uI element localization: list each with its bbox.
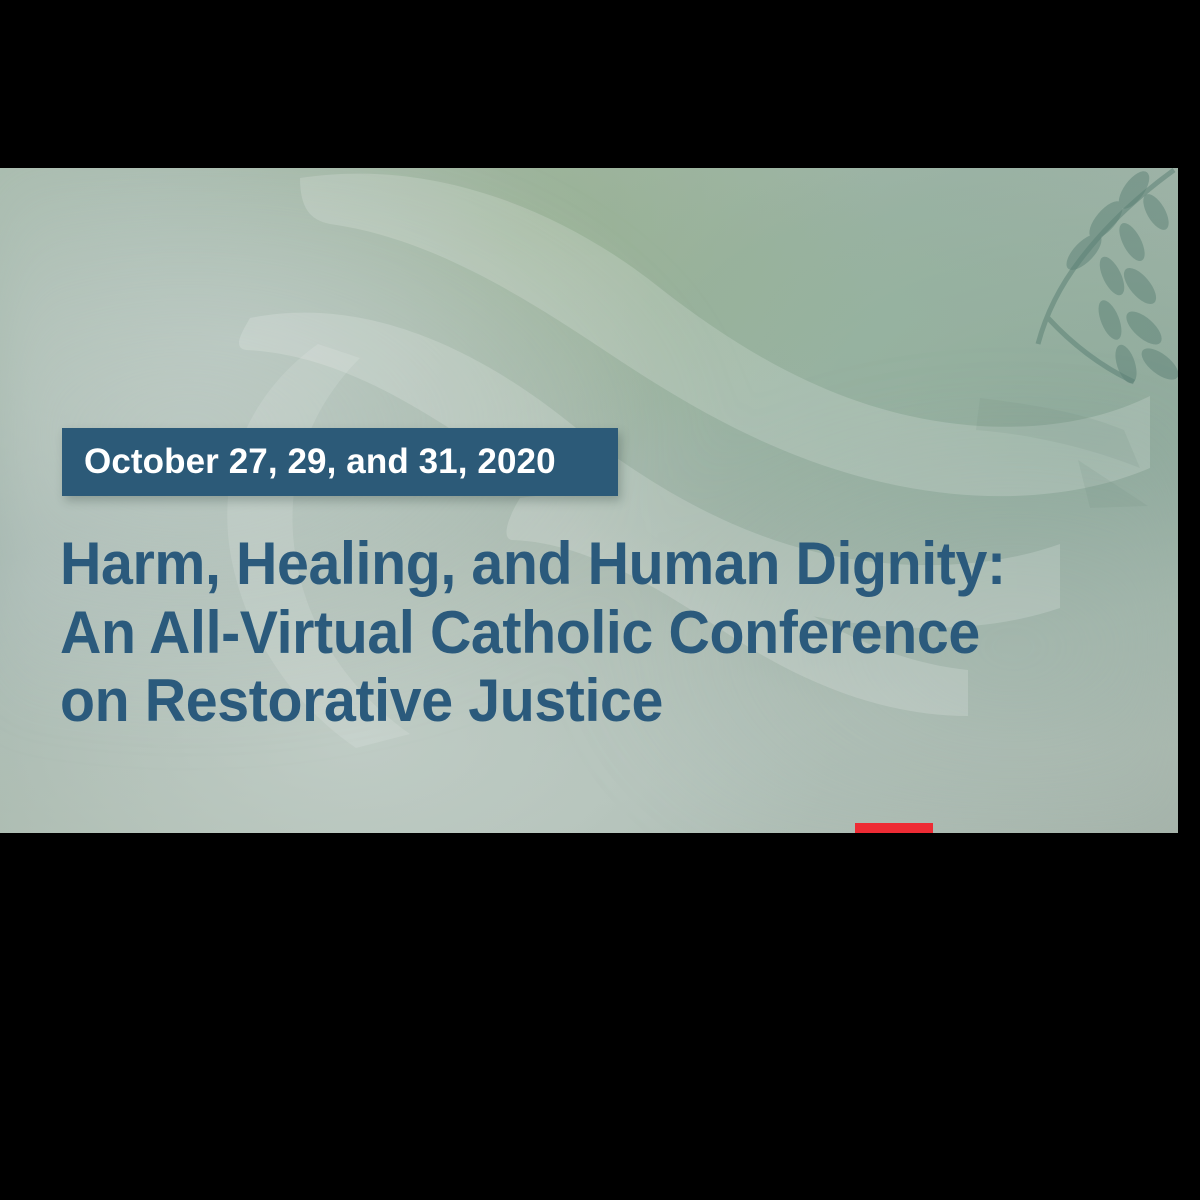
headline-line-2: An All-Virtual Catholic Conference	[60, 599, 1101, 668]
date-badge: October 27, 29, and 31, 2020	[62, 428, 618, 496]
logo-wordmark: CATHOLIC MOBILIZING NETWORK	[949, 823, 1128, 833]
headline: Harm, Healing, and Human Dignity: An All…	[60, 530, 1150, 736]
catholic-mobilizing-network-logo[interactable]: CATHOLIC MOBILIZING NETWORK	[855, 823, 1128, 833]
banner-with-cross-icon	[855, 823, 933, 833]
screenshot-canvas: October 27, 29, and 31, 2020 Harm, Heali…	[0, 0, 1200, 1200]
event-promo-banner: October 27, 29, and 31, 2020 Harm, Heali…	[0, 168, 1178, 833]
olive-branch-icon	[988, 168, 1178, 398]
headline-line-1: Harm, Healing, and Human Dignity:	[60, 530, 1101, 599]
headline-line-3: on Restorative Justice	[60, 667, 1101, 736]
date-badge-text: October 27, 29, and 31, 2020	[62, 442, 556, 482]
